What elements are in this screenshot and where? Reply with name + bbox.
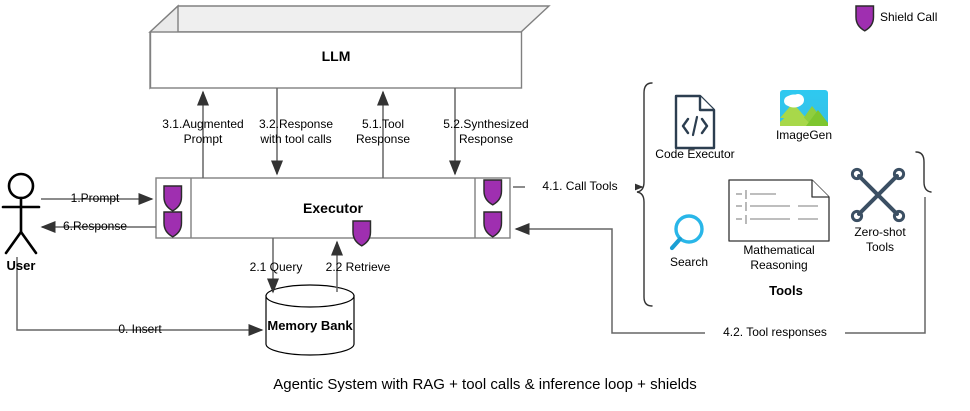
user-actor xyxy=(3,174,39,253)
edge-label-call-tools: 4.1. Call Tools xyxy=(525,179,635,194)
edge-label-prompt: 1.Prompt xyxy=(40,191,150,206)
image-gen-icon xyxy=(780,90,828,126)
edge-label-insert: 0. Insert xyxy=(60,322,220,337)
magnifier-icon xyxy=(672,216,702,248)
edge-label-response: 6.Response xyxy=(38,219,152,234)
diagram-caption: Agentic System with RAG + tool calls & i… xyxy=(0,376,970,394)
tools-group-label: Tools xyxy=(731,283,841,299)
math-document-icon xyxy=(729,180,829,241)
tool-label-search: Search xyxy=(659,255,719,270)
edge-label-retrieve: 2.2 Retrieve xyxy=(308,260,408,275)
llm-label: LLM xyxy=(270,48,402,65)
edge-label-tool-response: 5.1.Tool Response xyxy=(331,117,435,146)
edge-label-tool-responses: 4.2. Tool responses xyxy=(705,325,845,340)
tool-label-math-reasoning: Mathematical Reasoning xyxy=(718,243,840,272)
edge-label-synthesized: 5.2.Synthesized Response xyxy=(424,117,548,146)
code-document-icon xyxy=(676,96,714,148)
user-label: User xyxy=(0,258,51,274)
legend-label: Shield Call xyxy=(880,10,964,25)
crossed-wrenches-icon xyxy=(852,169,903,220)
tool-label-zero-shot: Zero-shot Tools xyxy=(840,225,920,254)
tool-label-imagegen: ImageGen xyxy=(764,128,844,143)
legend-shield-icon xyxy=(856,6,873,31)
executor-label: Executor xyxy=(267,200,399,217)
llm-node xyxy=(150,6,549,88)
memory-bank-label: Memory Bank xyxy=(250,318,370,334)
agentic-system-diagram: LLM Executor Memory Bank User 1.Prompt 6… xyxy=(0,0,970,411)
tool-label-code-executor: Code Executor xyxy=(645,147,745,162)
